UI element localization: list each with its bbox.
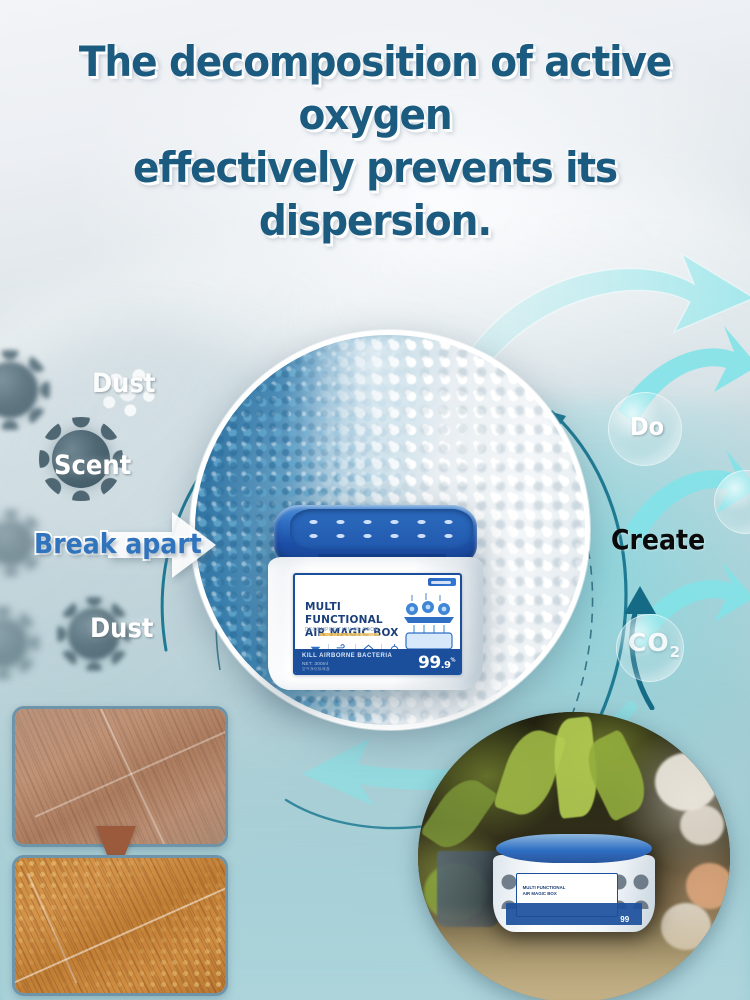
product-label: MULTI FUNCTIONAL AIR MAGIC BOX DECOMPOSI…: [293, 573, 462, 675]
percent-sign: %: [450, 657, 455, 663]
product-in-photo: MULTI FUNCTIONAL AIR MAGIC BOX 99: [493, 834, 655, 933]
co2-text: CO: [628, 628, 670, 657]
label-dust-top: Dust: [92, 368, 156, 399]
product-claim: KILL AIRBORNE BACTERIA: [302, 653, 392, 659]
lifestyle-photo: MULTI FUNCTIONAL AIR MAGIC BOX 99: [418, 712, 730, 1000]
white-flower: [680, 805, 724, 846]
product-lid-vent-holes: [300, 515, 462, 543]
promo-poster: The decomposition of active oxygen effec…: [0, 0, 750, 1000]
germ-icon: [0, 362, 38, 418]
product-air-magic-box: MULTI FUNCTIONAL AIR MAGIC BOX DECOMPOSI…: [268, 505, 483, 690]
wood-floor-after: [12, 855, 228, 996]
photo-product-lid: [496, 834, 652, 864]
photo-title-line-1: MULTI FUNCTIONAL: [523, 885, 566, 891]
label-break-apart: Break apart: [34, 527, 202, 560]
photo-title-line-2: AIR MAGIC BOX: [523, 891, 566, 897]
product-efficacy-percent: 99.9%: [418, 655, 455, 672]
product-subtitle-underline: [319, 633, 379, 636]
germ-icon: [0, 618, 28, 668]
product-chinese-name: 空气净化除味盒: [302, 667, 330, 672]
photo-product-percent: 99: [620, 915, 629, 924]
label-dust-bottom: Dust: [90, 613, 154, 644]
label-create: Create: [611, 523, 705, 556]
white-flower: [655, 753, 717, 811]
product-label-footer: KILL AIRBORNE BACTERIA NET: 300ml 空气净化除味…: [295, 649, 460, 673]
wood-shine-sparkle: [15, 858, 225, 993]
product-net-weight: NET: 300ml: [302, 661, 328, 666]
brand-badge-icon: [428, 578, 456, 586]
percent-main: 99: [418, 653, 441, 673]
co2-subscript: 2: [670, 643, 681, 661]
label-scent: Scent: [54, 450, 131, 481]
label-co2: CO2: [628, 628, 681, 661]
headline-line-1: The decomposition of active oxygen: [79, 37, 671, 139]
product-title-line-1: MULTI FUNCTIONAL: [305, 601, 409, 627]
peach-flower: [686, 863, 730, 909]
product-illustration: [402, 591, 456, 651]
germ-icon: [0, 520, 34, 566]
photo-product-title: MULTI FUNCTIONAL AIR MAGIC BOX: [523, 885, 566, 896]
bubble-do: [608, 392, 682, 466]
